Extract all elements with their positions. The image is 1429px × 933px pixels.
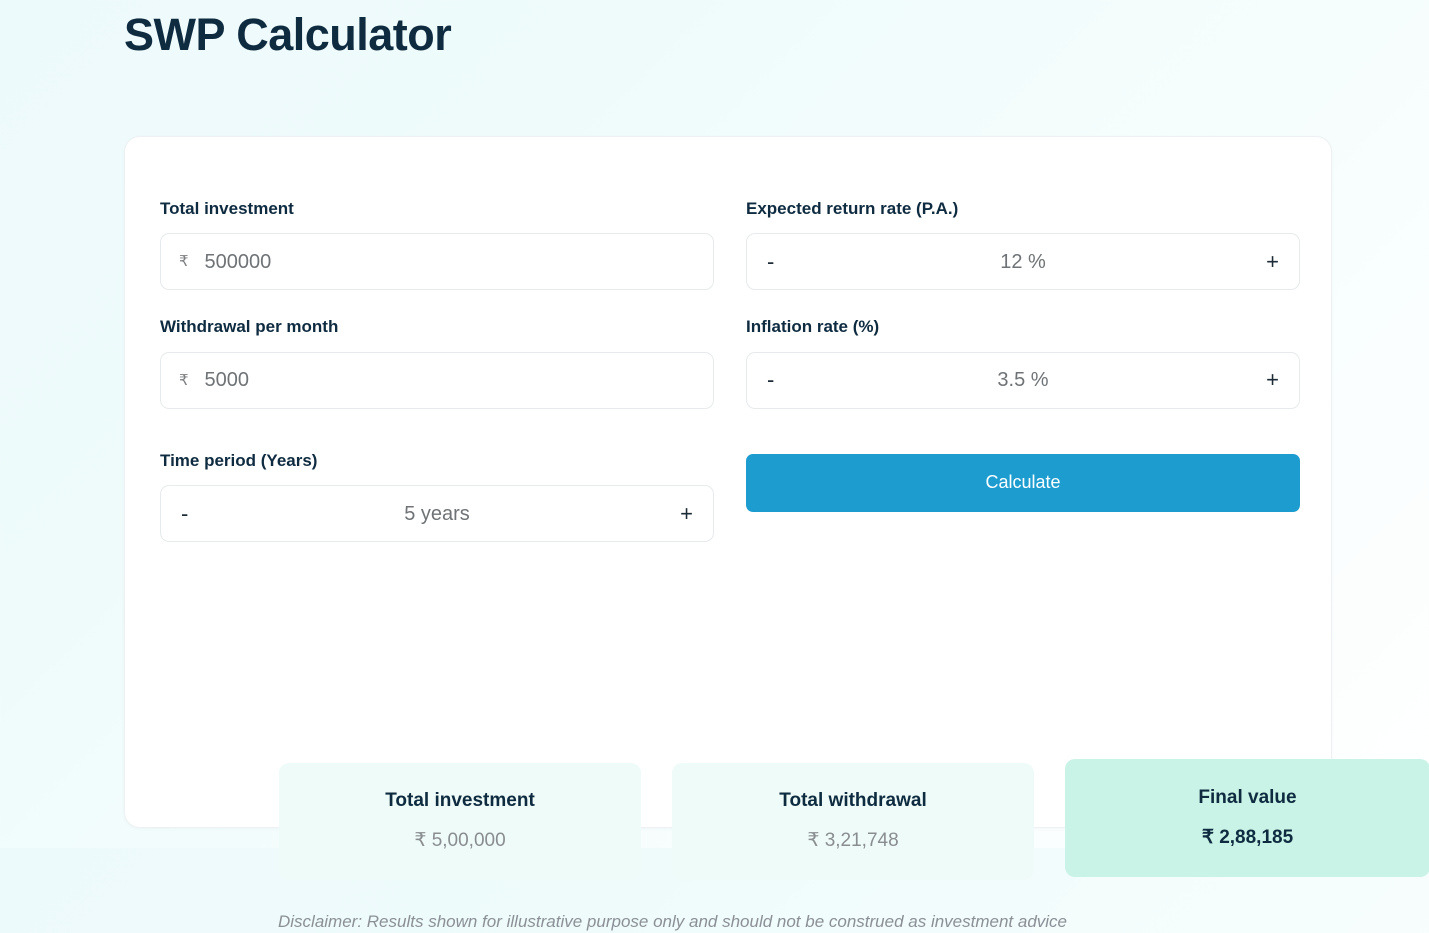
result-value: ₹ 5,00,000 (414, 830, 505, 853)
result-card-final-value: Final value ₹ 2,88,185 (1065, 759, 1429, 877)
disclaimer-text: Disclaimer: Results shown for illustrati… (278, 911, 1067, 933)
result-title: Final value (1198, 787, 1296, 810)
inflation-rate-label: Inflation rate (%) (746, 317, 1300, 337)
result-title: Total investment (385, 790, 535, 813)
result-value: ₹ 2,88,185 (1202, 827, 1293, 850)
rupee-icon: ₹ (179, 373, 189, 388)
result-title: Total withdrawal (779, 790, 926, 813)
expected-return-rate-label: Expected return rate (P.A.) (746, 199, 1300, 219)
result-value: ₹ 3,21,748 (807, 830, 898, 853)
inflation-rate-stepper[interactable]: - 3.5 % + (746, 352, 1300, 409)
calculator-card: Total investment ₹ 500000 Withdrawal per… (124, 136, 1332, 828)
total-investment-value: 500000 (205, 252, 272, 272)
result-card-total-withdrawal: Total withdrawal ₹ 3,21,748 (672, 763, 1034, 880)
time-period-value: 5 years (211, 504, 663, 524)
inflation-rate-value: 3.5 % (797, 370, 1249, 390)
inflation-rate-increment-icon[interactable]: + (1249, 369, 1279, 391)
form-column-right: Expected return rate (P.A.) - 12 % + Inf… (746, 199, 1300, 542)
time-period-increment-icon[interactable]: + (663, 503, 693, 525)
expected-return-rate-value: 12 % (797, 252, 1249, 272)
time-period-stepper[interactable]: - 5 years + (160, 485, 714, 542)
time-period-label: Time period (Years) (160, 451, 714, 471)
expected-return-rate-stepper[interactable]: - 12 % + (746, 233, 1300, 290)
results-row: Total investment ₹ 5,00,000 Total withdr… (279, 742, 1429, 882)
calculate-button[interactable]: Calculate (746, 454, 1300, 512)
total-investment-label: Total investment (160, 199, 714, 219)
form-fields-grid: Total investment ₹ 500000 Withdrawal per… (160, 199, 1300, 542)
result-card-total-investment: Total investment ₹ 5,00,000 (279, 763, 641, 880)
expected-return-rate-increment-icon[interactable]: + (1249, 251, 1279, 273)
rupee-icon: ₹ (179, 254, 189, 269)
time-period-decrement-icon[interactable]: - (181, 503, 211, 525)
withdrawal-per-month-input[interactable]: ₹ 5000 (160, 352, 714, 409)
total-investment-input[interactable]: ₹ 500000 (160, 233, 714, 290)
inflation-rate-decrement-icon[interactable]: - (767, 369, 797, 391)
withdrawal-per-month-value: 5000 (205, 370, 250, 390)
form-column-left: Total investment ₹ 500000 Withdrawal per… (160, 199, 714, 542)
withdrawal-per-month-label: Withdrawal per month (160, 317, 714, 337)
expected-return-rate-decrement-icon[interactable]: - (767, 251, 797, 273)
page-title: SWP Calculator (124, 8, 451, 62)
